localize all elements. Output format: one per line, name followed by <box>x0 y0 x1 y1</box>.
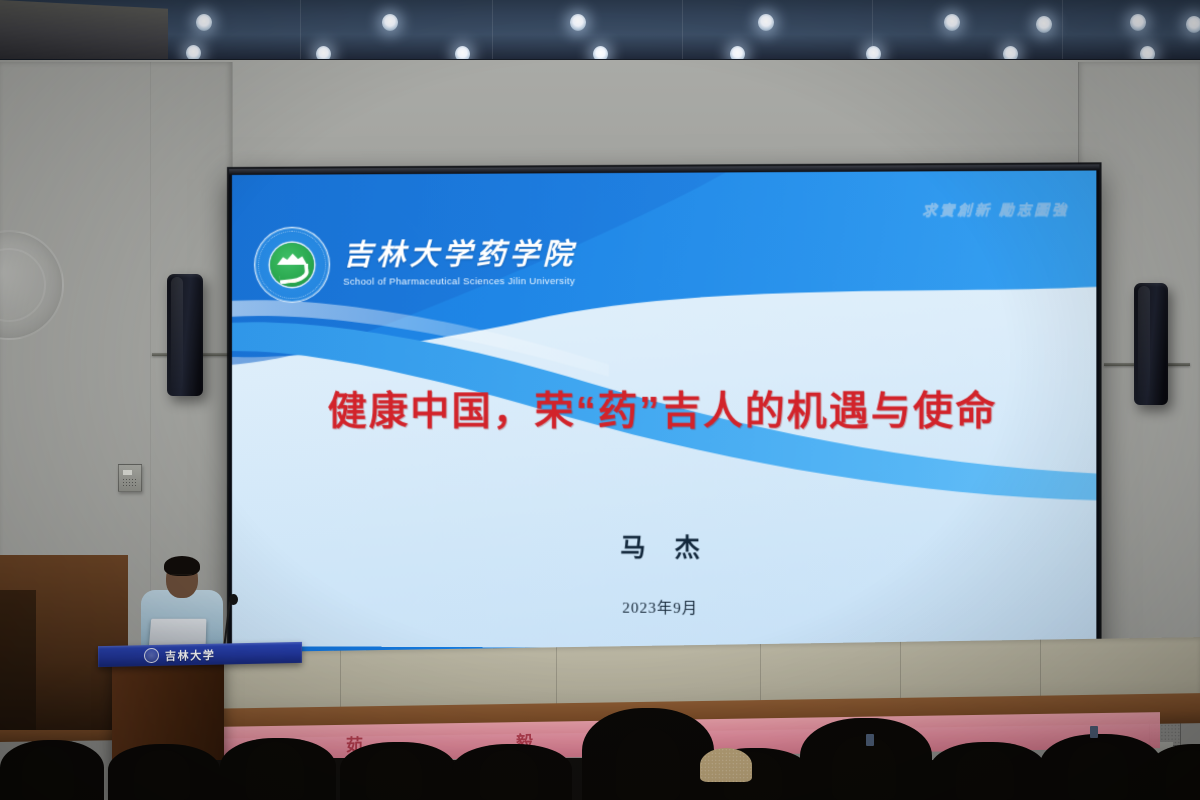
wall-speaker-left <box>167 274 203 396</box>
lecture-hall-photo: 1949 吉林大学药学院 School of Pharmaceutical Sc… <box>0 0 1200 800</box>
audience-member-head <box>1166 750 1200 800</box>
wall-speaker-right <box>1134 283 1168 405</box>
slide-title: 健康中国，荣“药”吉人的机遇与使命 <box>232 379 1096 436</box>
audience-member-head <box>134 750 190 800</box>
ceiling-light <box>382 14 398 31</box>
slide-date: 2023年9月 <box>232 595 1096 620</box>
audience-phone <box>866 734 874 746</box>
audience-member-head <box>616 728 680 800</box>
lectern-university-name: 吉林大学 <box>165 646 215 663</box>
audience-member-head <box>246 742 304 800</box>
ceiling-light <box>1036 16 1052 33</box>
school-name-en: School of Pharmaceutical Sciences Jilin … <box>343 277 576 287</box>
emblem-year: 1949 <box>270 279 314 284</box>
ceiling-light <box>758 14 774 31</box>
ceiling-light <box>944 14 960 31</box>
microphone-icon <box>229 594 238 605</box>
ceiling-light <box>1130 14 1146 31</box>
wall-control-box[interactable] <box>118 464 142 492</box>
audience-member-head <box>480 750 538 800</box>
lectern-nameplate: 吉林大学 <box>98 642 302 667</box>
wall-relief-seal-icon <box>0 230 64 340</box>
audience-member-head <box>832 736 896 800</box>
school-name-cn: 吉林大学药学院 <box>343 241 576 271</box>
audience-phone <box>1090 726 1098 738</box>
emblem-inner-disc: 1949 <box>270 243 314 287</box>
audience-member-head <box>956 748 1014 800</box>
vent-grille-icon <box>122 478 138 487</box>
school-emblem-icon: 1949 <box>254 227 330 303</box>
presenter-hair <box>164 556 200 576</box>
glasses-icon <box>170 574 192 580</box>
audience-member-hat <box>700 748 752 782</box>
ceiling-light <box>1186 16 1200 33</box>
audience <box>0 690 1200 800</box>
audience-member-head <box>366 748 422 800</box>
school-name-block: 吉林大学药学院 School of Pharmaceutical Science… <box>343 241 576 287</box>
slide-presenter-name: 马 杰 <box>232 527 1096 566</box>
slide-motto: 求實創新 勵志圖強 <box>922 199 1069 220</box>
school-logo-lockup: 1949 吉林大学药学院 School of Pharmaceutical Sc… <box>254 226 576 303</box>
projection-screen: 1949 吉林大学药学院 School of Pharmaceutical Sc… <box>229 164 1099 668</box>
university-seal-icon <box>144 648 159 663</box>
ceiling-light <box>570 14 586 31</box>
audience-member-head <box>1068 742 1128 800</box>
ceiling-light <box>196 14 212 31</box>
indicator-led-icon <box>123 470 132 475</box>
presentation-slide: 1949 吉林大学药学院 School of Pharmaceutical Sc… <box>232 170 1096 659</box>
audience-member-head <box>22 746 74 800</box>
